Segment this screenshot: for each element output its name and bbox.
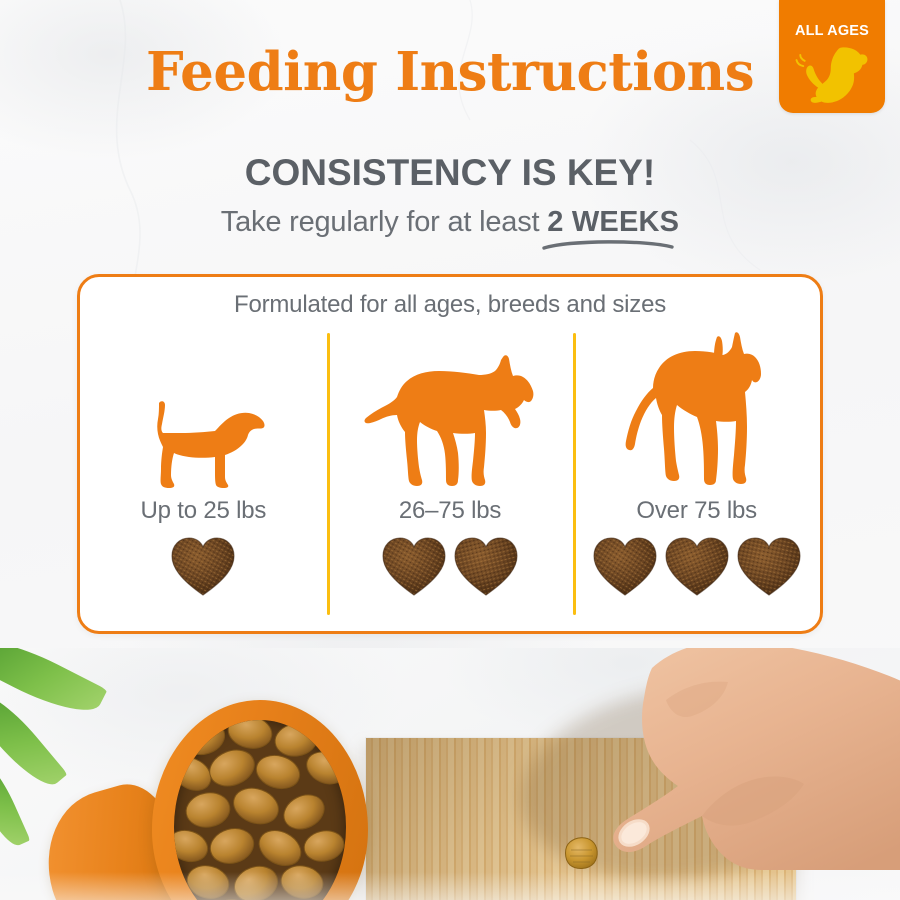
tagline: Take regularly for at least 2 WEEKS (0, 208, 900, 237)
product-photo-scene (0, 648, 900, 900)
kibble-pile (174, 720, 346, 900)
kibble-piece-icon (170, 535, 236, 597)
feeding-chart-card: Formulated for all ages, breeds and size… (77, 274, 823, 634)
page-subtitle: CONSISTENCY IS KEY! (0, 154, 900, 191)
dog-illustration-slot (617, 331, 777, 489)
all-ages-badge-label: ALL AGES (779, 23, 885, 39)
page-title: Feeding Instructions (0, 46, 900, 99)
weight-label: Over 75 lbs (636, 499, 757, 523)
small-dog-silhouette-icon (137, 389, 269, 489)
kibble-group (170, 535, 236, 597)
kibble-piece-icon (453, 535, 519, 597)
weight-label: Up to 25 lbs (140, 499, 266, 523)
dog-illustration-slot (363, 331, 537, 489)
tagline-emphasis: 2 WEEKS (547, 206, 679, 238)
feeding-column-medium: 26–75 lbs (327, 331, 574, 631)
kibble-group (381, 535, 519, 597)
kibble-group (592, 535, 802, 597)
kibble-piece-icon (381, 535, 447, 597)
feeding-column-large: Over 75 lbs (573, 331, 820, 631)
medium-dog-silhouette-icon (363, 353, 537, 489)
held-kibble-piece-icon (562, 836, 600, 870)
tagline-emphasis-wrap: 2 WEEKS (547, 208, 679, 237)
kibble-piece-icon (736, 535, 802, 597)
feeding-column-small: Up to 25 lbs (80, 331, 327, 631)
feeding-instructions-poster: ALL AGES Feeding Instructions CONSISTENC… (0, 0, 900, 900)
hand-drawn-underline-icon (541, 237, 675, 251)
feeding-columns: Up to 25 lbs (80, 331, 820, 631)
kibble-piece-icon (592, 535, 658, 597)
weight-label: 26–75 lbs (399, 499, 501, 523)
tagline-prefix: Take regularly for at least (221, 206, 547, 238)
card-heading: Formulated for all ages, breeds and size… (80, 293, 820, 317)
kibble-piece-icon (664, 535, 730, 597)
hand-holding-kibble (556, 648, 900, 870)
large-dog-silhouette-icon (617, 331, 777, 489)
container-interior (174, 720, 346, 900)
dog-illustration-slot (137, 331, 269, 489)
